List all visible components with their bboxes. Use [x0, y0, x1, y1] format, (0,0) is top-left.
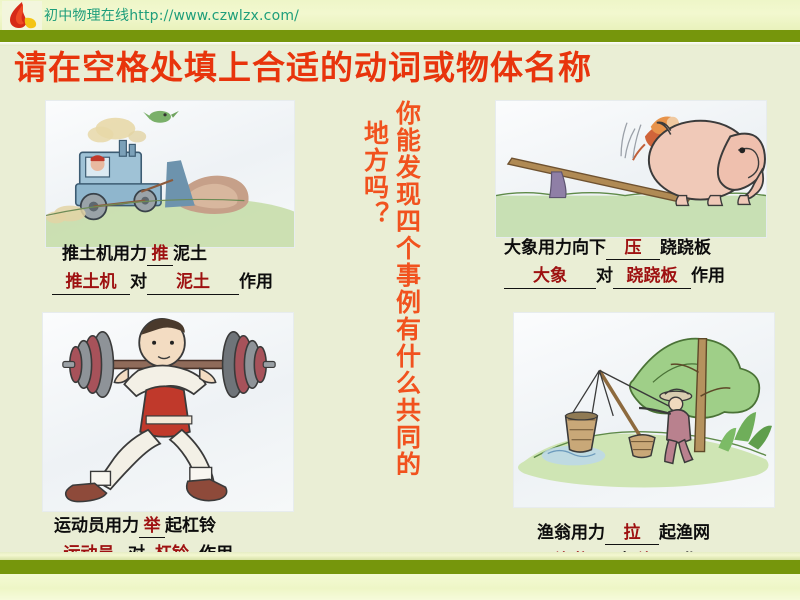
bottom-background-strip [0, 574, 800, 600]
slide-canvas: 初中物理在线http://www.czwlzx.com/ 请在空格处填上合适的动… [0, 0, 800, 600]
site-url-text: 初中物理在线http://www.czwlzx.com/ [44, 5, 299, 25]
bulldozer-image [45, 100, 295, 248]
caption-line2-object[interactable]: 跷跷板 [613, 264, 691, 289]
bottom-olive-band [0, 560, 800, 574]
caption-line2-suffix: 作用 [691, 266, 725, 286]
caption-line2-subject[interactable]: 大象 [504, 264, 596, 289]
center-question-column-left: 地方吗？ [362, 120, 388, 300]
caption-line1-prefix: 运动员用力 [54, 516, 139, 536]
caption-line1-suffix: 起渔网 [659, 523, 710, 543]
caption-line2-object[interactable]: 泥土 [147, 270, 239, 295]
elephant-caption: 大象用力向下压跷跷板 大象对跷跷板作用 [504, 237, 725, 289]
caption-line1-answer[interactable]: 拉 [605, 522, 659, 545]
elephant-image [495, 100, 767, 238]
flame-logo-icon [2, 1, 42, 30]
top-olive-band [0, 30, 800, 42]
bottom-hairline [0, 552, 800, 560]
caption-line1-answer[interactable]: 举 [139, 515, 165, 538]
bulldozer-caption: 推土机用力推泥土 推土机对泥土作用 [52, 243, 273, 295]
caption-line1-suffix: 起杠铃 [165, 516, 216, 536]
page-title: 请在空格处填上合适的动词或物体名称 [14, 48, 654, 88]
caption-line2-mid: 对 [130, 272, 147, 292]
caption-line1-prefix: 推土机用力 [62, 244, 147, 264]
center-question-column-right: 你能发现四个事例有什么共同的 [394, 100, 420, 510]
caption-line1-answer[interactable]: 推 [147, 243, 173, 266]
caption-line1-suffix: 跷跷板 [660, 238, 711, 258]
caption-line1-suffix: 泥土 [173, 244, 207, 264]
caption-line1-prefix: 大象用力向下 [504, 238, 606, 258]
caption-line2-mid: 对 [596, 266, 613, 286]
caption-line1-answer[interactable]: 压 [606, 237, 660, 260]
caption-line2-subject[interactable]: 推土机 [52, 270, 130, 295]
weightlifter-image [42, 312, 294, 512]
caption-line1-prefix: 渔翁用力 [537, 523, 605, 543]
fisherman-image [513, 312, 775, 508]
caption-line2-suffix: 作用 [239, 272, 273, 292]
